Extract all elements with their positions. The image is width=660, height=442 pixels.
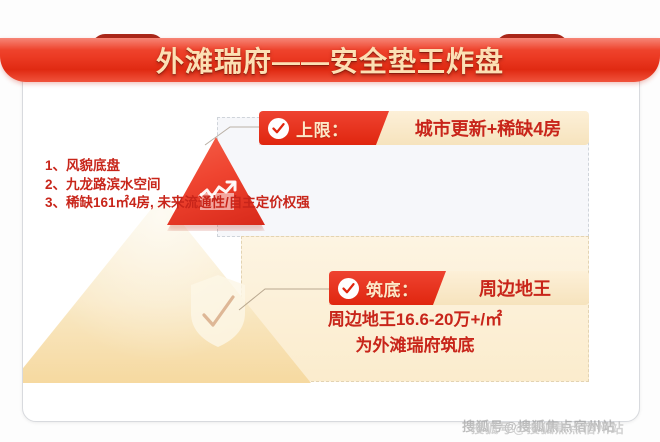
callout-lower-tag: 筑底： [329, 271, 446, 305]
callout-lower-value: 周边地王 [441, 271, 589, 305]
callout-lower-lines: 周边地王16.6-20万+/㎡ 为外滩瑞府筑底 [241, 307, 589, 359]
content-card: 上限： 城市更新+稀缺4房 1、风貌底盘 2、九龙路滨水空间 3、稀缺161㎡4… [22, 44, 640, 422]
check-circle-icon [338, 278, 359, 299]
callout-upper-label: 上限： [296, 116, 349, 141]
bullet-item-1: 1、风貌底盘 [45, 157, 395, 176]
callout-upper-bullets: 1、风貌底盘 2、九龙路滨水空间 3、稀缺161㎡4房, 未来流通性/自主定价权… [45, 157, 395, 213]
lower-line-1: 周边地王16.6-20万+/㎡ [241, 307, 589, 333]
callout-upper-value: 城市更新+稀缺4房 [387, 111, 589, 145]
callout-upper-tag-row: 上限： 城市更新+稀缺4房 [259, 111, 589, 145]
watermark: 搜狐号@搜狐焦点宿州站 搜狐号@搜狐焦点宿州站 [462, 416, 616, 435]
banner-title: 外滩瑞府——安全垫王炸盘 [0, 38, 660, 82]
shield-check-icon [187, 273, 249, 349]
callout-upper: 上限： 城市更新+稀缺4房 [259, 111, 589, 145]
lower-line-2: 为外滩瑞府筑底 [241, 333, 589, 359]
bullet-item-2: 2、九龙路滨水空间 [45, 176, 395, 195]
callout-lower: 筑底： 周边地王 [329, 271, 589, 305]
callout-lower-label: 筑底： [366, 276, 419, 301]
callout-upper-tag: 上限： [259, 111, 389, 145]
callout-lower-tag-row: 筑底： 周边地王 [329, 271, 589, 305]
check-circle-icon [268, 118, 289, 139]
bullet-item-3: 3、稀缺161㎡4房, 未来流通性/自主定价权强 [45, 194, 395, 213]
screenshot-root: 上限： 城市更新+稀缺4房 1、风貌底盘 2、九龙路滨水空间 3、稀缺161㎡4… [0, 0, 660, 442]
watermark-text-shadow: 搜狐号@搜狐焦点宿州站 [471, 418, 625, 437]
banner: 外滩瑞府——安全垫王炸盘 [0, 16, 660, 82]
